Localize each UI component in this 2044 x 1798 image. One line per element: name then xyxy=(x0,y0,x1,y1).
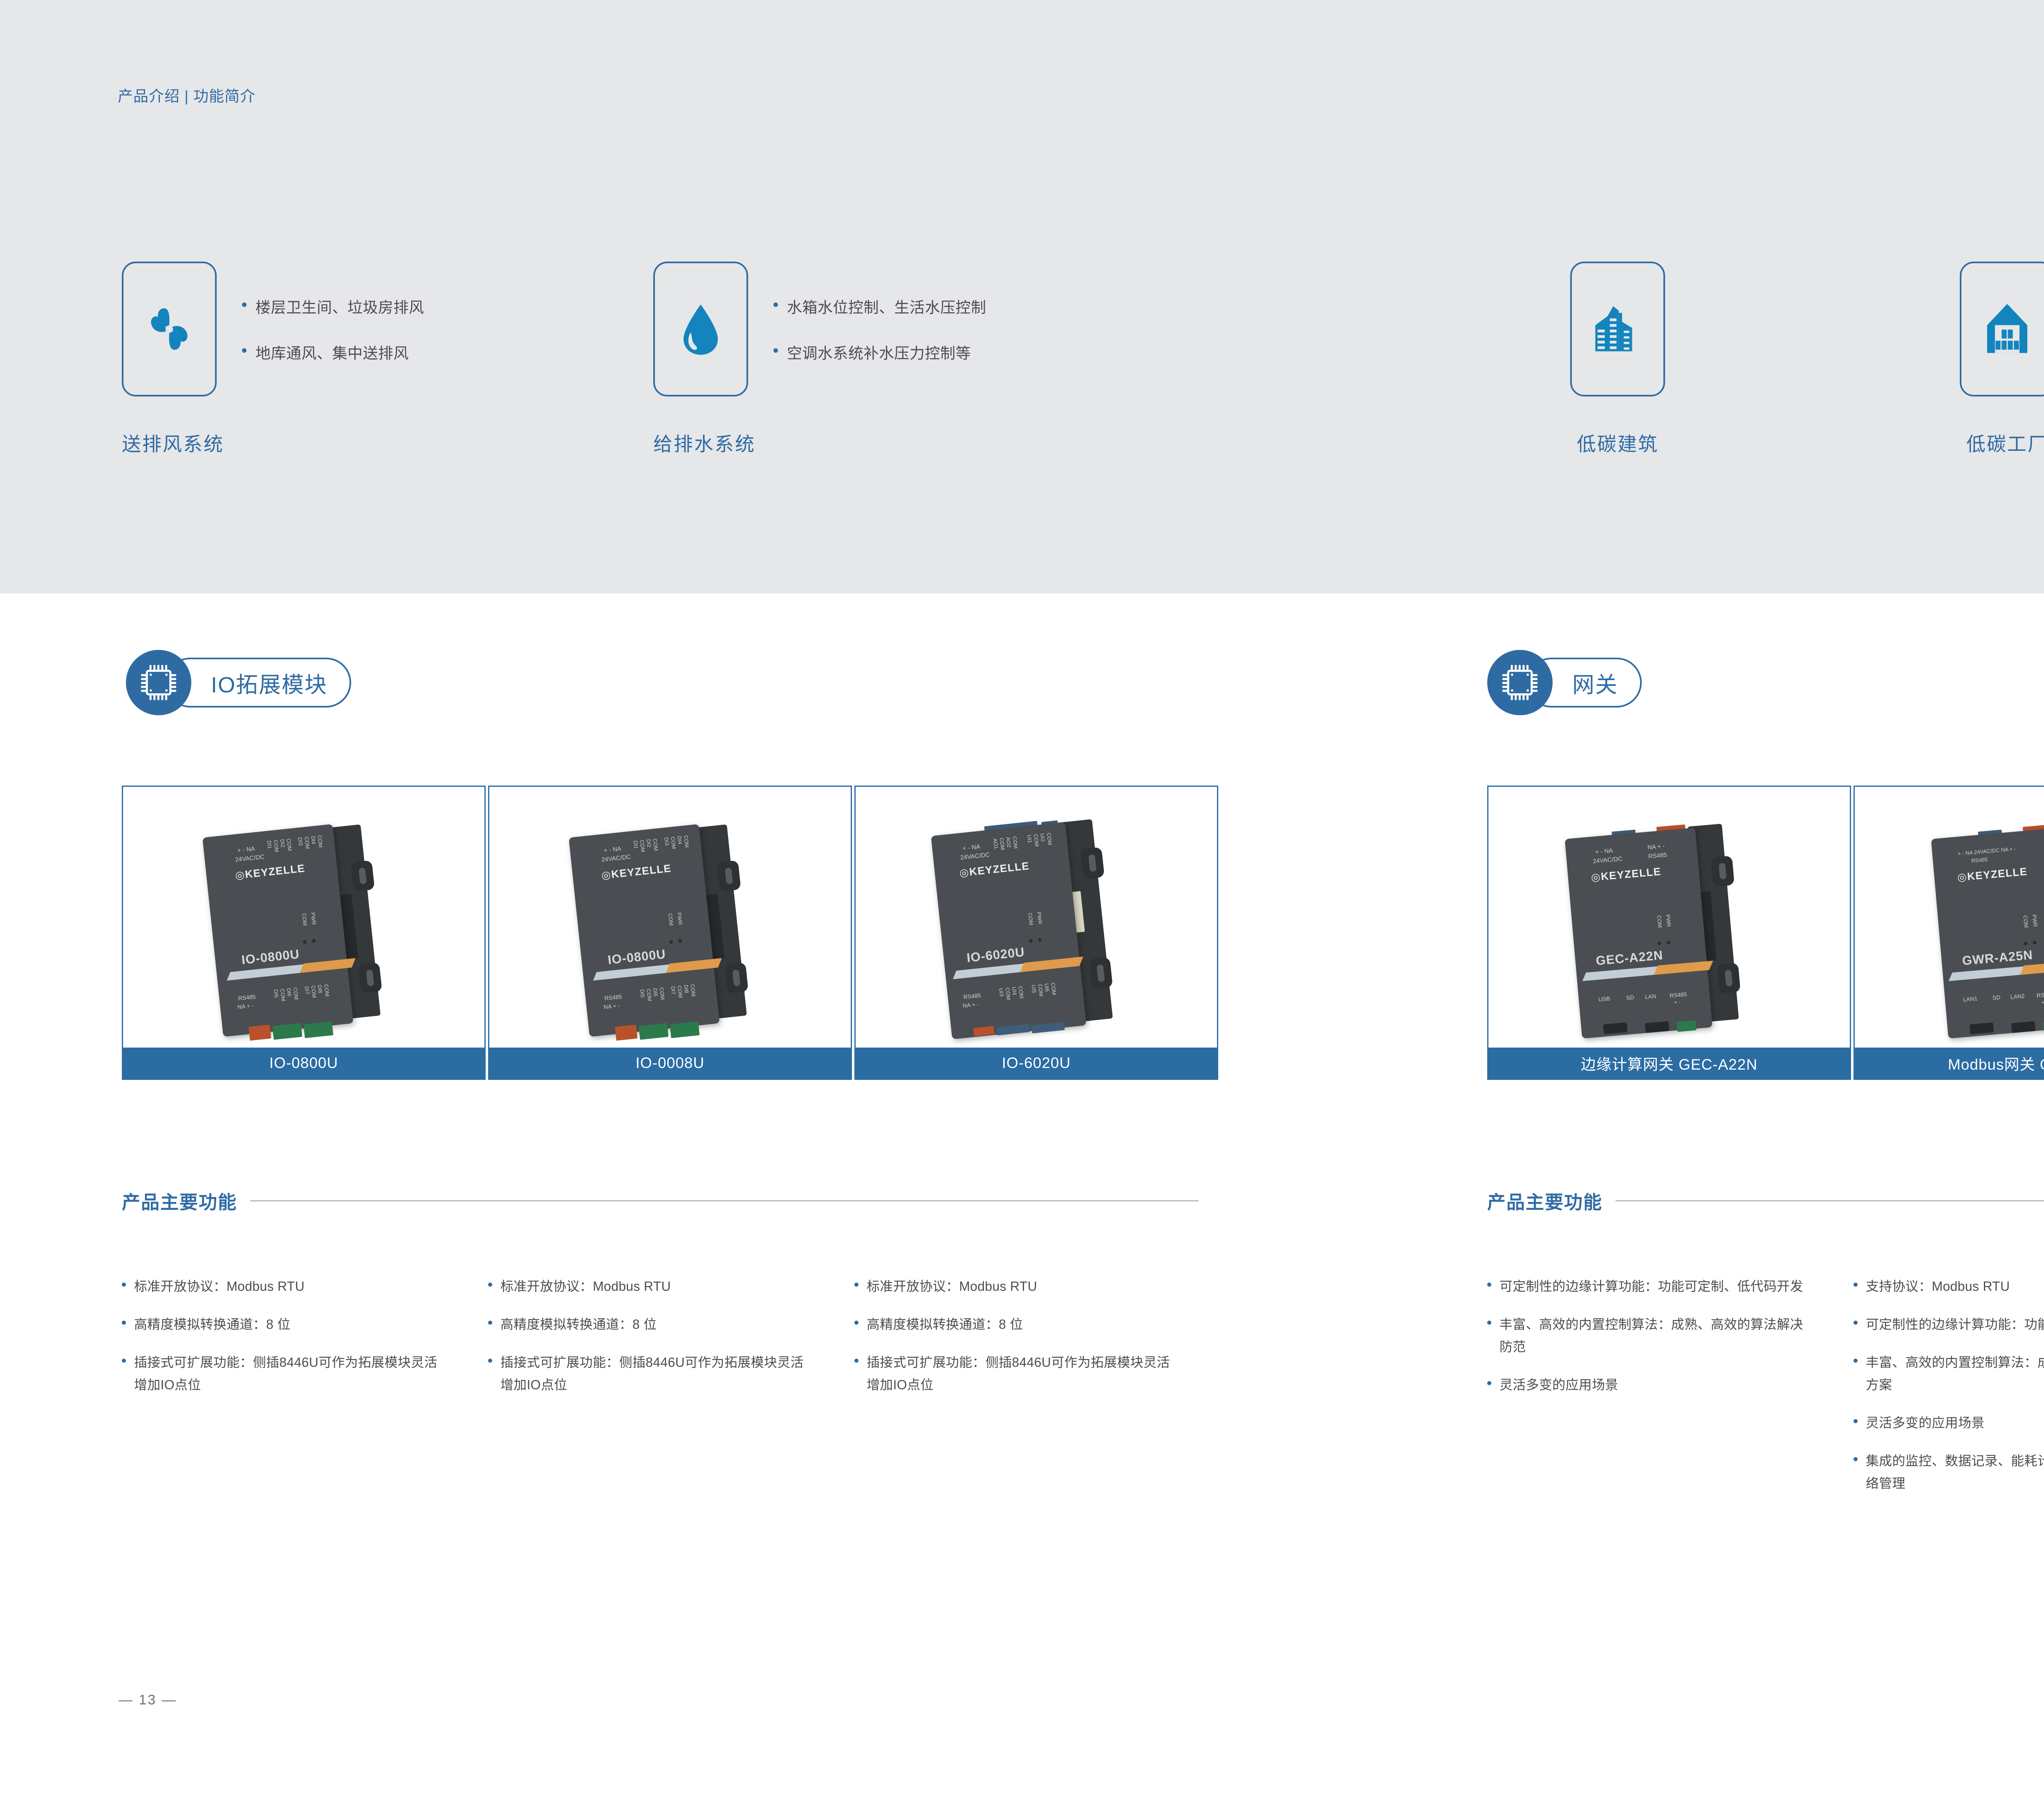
factory-icon xyxy=(1979,298,2036,360)
bullet-dot xyxy=(773,348,778,353)
office-building-icon xyxy=(1589,298,1646,360)
fan-icon xyxy=(139,298,200,360)
divider-line xyxy=(250,1200,1199,1201)
fan-icon-box xyxy=(122,262,217,396)
list-item: 空调水系统补水压力控制等 xyxy=(773,341,986,363)
scenario-block-water: 水箱水位控制、生活水压控制 空调水系统补水压力控制等 给排水系统 xyxy=(653,262,986,457)
chip-icon-badge xyxy=(126,650,191,715)
feature-text: 支持协议：Modbus RTU xyxy=(1866,1275,2010,1298)
list-item: 标准开放协议：Modbus RTU xyxy=(854,1275,1181,1298)
features-heading-io: 产品主要功能 xyxy=(122,1187,1218,1214)
list-item: 可定制性的边缘计算功能：功能可定制、低代码开发 xyxy=(1853,1313,2044,1336)
scenario-title: 给排水系统 xyxy=(653,428,986,457)
feature-text: 高精度模拟转换通道：8 位 xyxy=(500,1313,657,1336)
list-item: 灵活多变的应用场景 xyxy=(1853,1412,2044,1434)
list-item: 插接式可扩展功能：侧插8446U可作为拓展模块灵活增加IO点位 xyxy=(488,1351,815,1396)
bullet-dot xyxy=(488,1321,492,1325)
list-item: 支持协议：Modbus RTU xyxy=(1853,1275,2044,1298)
features-title: 产品主要功能 xyxy=(122,1187,237,1214)
water-drop-icon xyxy=(670,298,731,360)
feature-text: 灵活多变的应用场景 xyxy=(1499,1374,1618,1396)
list-item: 丰富、高效的内置控制算法：成熟、高效的算法解决防范 xyxy=(1487,1313,1814,1358)
product-image: + - NA 24VAC/DC NA + - RS485 ◎KEYZELLE G… xyxy=(1488,787,1850,1048)
product-label: 边缘计算网关 GEC-A22N xyxy=(1488,1048,1850,1079)
bullet-dot xyxy=(1853,1321,1858,1325)
bullet-text: 地库通风、集中送排风 xyxy=(255,341,409,363)
bullet-text: 水箱水位控制、生活水压控制 xyxy=(787,295,986,317)
product-label: IO-0008U xyxy=(489,1048,851,1079)
feature-text: 高精度模拟转换通道：8 位 xyxy=(134,1313,291,1336)
list-item: 楼层卫生间、垃圾房排风 xyxy=(242,295,424,317)
bullet-dot xyxy=(242,348,247,353)
product-image: + - NA 24VAC/DC AO1 COM AO2 COM UI1 COM … xyxy=(856,787,1217,1048)
feature-column: 可定制性的边缘计算功能：功能可定制、低代码开发 丰富、高效的内置控制算法：成熟、… xyxy=(1487,1275,1814,1412)
bullet-text: 楼层卫生间、垃圾房排风 xyxy=(255,295,424,317)
factory-icon-box xyxy=(1960,262,2044,396)
scenario-block-ventilation: 楼层卫生间、垃圾房排风 地库通风、集中送排风 送排风系统 xyxy=(122,262,424,457)
bullet-dot xyxy=(242,302,247,307)
section-title-pill: IO拓展模块 xyxy=(165,658,351,708)
section-title: IO拓展模块 xyxy=(211,667,327,699)
feature-text: 可定制性的边缘计算功能：功能可定制、低代码开发 xyxy=(1499,1275,1803,1298)
product-label: IO-6020U xyxy=(856,1048,1217,1079)
chip-icon xyxy=(139,663,178,702)
water-drop-icon-box xyxy=(653,262,748,396)
feature-column: 标准开放协议：Modbus RTU 高精度模拟转换通道：8 位 插接式可扩展功能… xyxy=(122,1275,449,1412)
feature-column: 标准开放协议：Modbus RTU 高精度模拟转换通道：8 位 插接式可扩展功能… xyxy=(488,1275,815,1412)
feature-text: 插接式可扩展功能：侧插8446U可作为拓展模块灵活增加IO点位 xyxy=(500,1351,815,1396)
list-item: 插接式可扩展功能：侧插8446U可作为拓展模块灵活增加IO点位 xyxy=(854,1351,1181,1396)
section-header-gateways: 网关 xyxy=(1487,650,1642,715)
chip-icon-badge xyxy=(1487,650,1553,715)
product-image: + - NA 24VAC/DC DI1 COM DI2 COM DI3 COM … xyxy=(123,787,484,1048)
feature-text: 高精度模拟转换通道：8 位 xyxy=(867,1313,1023,1336)
feature-text: 灵活多变的应用场景 xyxy=(1866,1412,1985,1434)
product-card[interactable]: + - NA 24VAC/DC DI1 COM DI2 COM DI3 COM … xyxy=(488,786,852,1080)
bullet-dot xyxy=(122,1283,126,1287)
list-item: 地库通风、集中送排风 xyxy=(242,341,424,363)
running-header-left: 产品介绍 | 功能简介 xyxy=(118,84,255,106)
bullet-dot xyxy=(1487,1321,1491,1325)
application-card-low-carbon-factory: 低碳工厂 xyxy=(1960,262,2044,457)
office-building-icon-box xyxy=(1570,262,1665,396)
list-item: 高精度模拟转换通道：8 位 xyxy=(488,1313,815,1336)
list-item: 高精度模拟转换通道：8 位 xyxy=(122,1313,449,1336)
list-item: 标准开放协议：Modbus RTU xyxy=(488,1275,815,1298)
water-bullets: 水箱水位控制、生活水压控制 空调水系统补水压力控制等 xyxy=(773,295,986,363)
list-item: 灵活多变的应用场景 xyxy=(1487,1374,1814,1396)
bullet-dot xyxy=(1853,1457,1858,1461)
product-image: + - NA 24VAC/DC DI1 COM DI2 COM DI3 COM … xyxy=(489,787,851,1048)
product-label: Modbus网关 GWR-A25N xyxy=(1855,1048,2044,1079)
application-card-label: 低碳建筑 xyxy=(1577,428,1659,457)
bullet-dot xyxy=(854,1283,858,1287)
features-heading-gw: 产品主要功能 xyxy=(1487,1187,2044,1214)
product-card[interactable]: + - NA 24VAC/DC NA + - RS485 ◎KEYZELLE G… xyxy=(1487,786,1851,1080)
product-card[interactable]: + - NA 24VAC/DC DI1 COM DI2 COM DI3 COM … xyxy=(122,786,486,1080)
product-card[interactable]: + - NA 24VAC/DC AO1 COM AO2 COM UI1 COM … xyxy=(854,786,1218,1080)
list-item: 丰富、高效的内置控制算法：成熟、高效的算法解决方案 xyxy=(1853,1351,2044,1396)
features-title: 产品主要功能 xyxy=(1487,1187,1602,1214)
list-item: 水箱水位控制、生活水压控制 xyxy=(773,295,986,317)
section-title: 网关 xyxy=(1572,667,1618,699)
feature-text: 标准开放协议：Modbus RTU xyxy=(867,1275,1037,1298)
feature-text: 插接式可扩展功能：侧插8446U可作为拓展模块灵活增加IO点位 xyxy=(134,1351,449,1396)
bullet-dot xyxy=(1853,1359,1858,1363)
bullet-dot xyxy=(854,1321,858,1325)
feature-column: 标准开放协议：Modbus RTU 高精度模拟转换通道：8 位 插接式可扩展功能… xyxy=(854,1275,1181,1412)
application-card-label: 低碳工厂 xyxy=(1966,428,2044,457)
list-item: 集成的监控、数据记录、能耗计量、报警、调度和网络管理 xyxy=(1853,1450,2044,1495)
feature-text: 标准开放协议：Modbus RTU xyxy=(134,1275,305,1298)
bullet-dot xyxy=(122,1359,126,1363)
ventilation-bullets: 楼层卫生间、垃圾房排风 地库通风、集中送排风 xyxy=(242,295,424,363)
bullet-dot xyxy=(122,1321,126,1325)
feature-text: 集成的监控、数据记录、能耗计量、报警、调度和网络管理 xyxy=(1866,1450,2044,1495)
bullet-dot xyxy=(1853,1283,1858,1287)
feature-text: 标准开放协议：Modbus RTU xyxy=(500,1275,671,1298)
product-image: + - NA 24VAC/DC NA + - RS485 ◎KEYZELLE G… xyxy=(1855,787,2044,1048)
bullet-dot xyxy=(488,1359,492,1363)
list-item: 高精度模拟转换通道：8 位 xyxy=(854,1313,1181,1336)
feature-text: 丰富、高效的内置控制算法：成熟、高效的算法解决防范 xyxy=(1499,1313,1814,1358)
divider-line xyxy=(1616,1200,2044,1201)
feature-text: 插接式可扩展功能：侧插8446U可作为拓展模块灵活增加IO点位 xyxy=(867,1351,1181,1396)
product-card[interactable]: + - NA 24VAC/DC NA + - RS485 ◎KEYZELLE G… xyxy=(1853,786,2044,1080)
feature-column: 支持协议：Modbus RTU 可定制性的边缘计算功能：功能可定制、低代码开发 … xyxy=(1853,1275,2044,1510)
feature-text: 丰富、高效的内置控制算法：成熟、高效的算法解决方案 xyxy=(1866,1351,2044,1396)
list-item: 可定制性的边缘计算功能：功能可定制、低代码开发 xyxy=(1487,1275,1814,1298)
bullet-dot xyxy=(1487,1381,1491,1385)
list-item: 插接式可扩展功能：侧插8446U可作为拓展模块灵活增加IO点位 xyxy=(122,1351,449,1396)
page-number-left: — 13 — xyxy=(119,1692,177,1708)
bullet-dot xyxy=(1487,1283,1491,1287)
bullet-text: 空调水系统补水压力控制等 xyxy=(787,341,971,363)
application-card-low-carbon-building: 低碳建筑 xyxy=(1570,262,1665,457)
list-item: 标准开放协议：Modbus RTU xyxy=(122,1275,449,1298)
bullet-dot xyxy=(854,1359,858,1363)
section-header-io-modules: IO拓展模块 xyxy=(126,650,351,715)
chip-icon xyxy=(1500,663,1540,702)
bullet-dot xyxy=(488,1283,492,1287)
bullet-dot xyxy=(773,302,778,307)
feature-text: 可定制性的边缘计算功能：功能可定制、低代码开发 xyxy=(1866,1313,2044,1336)
bullet-dot xyxy=(1853,1419,1858,1423)
scenario-title: 送排风系统 xyxy=(122,428,424,457)
product-label: IO-0800U xyxy=(123,1048,484,1079)
